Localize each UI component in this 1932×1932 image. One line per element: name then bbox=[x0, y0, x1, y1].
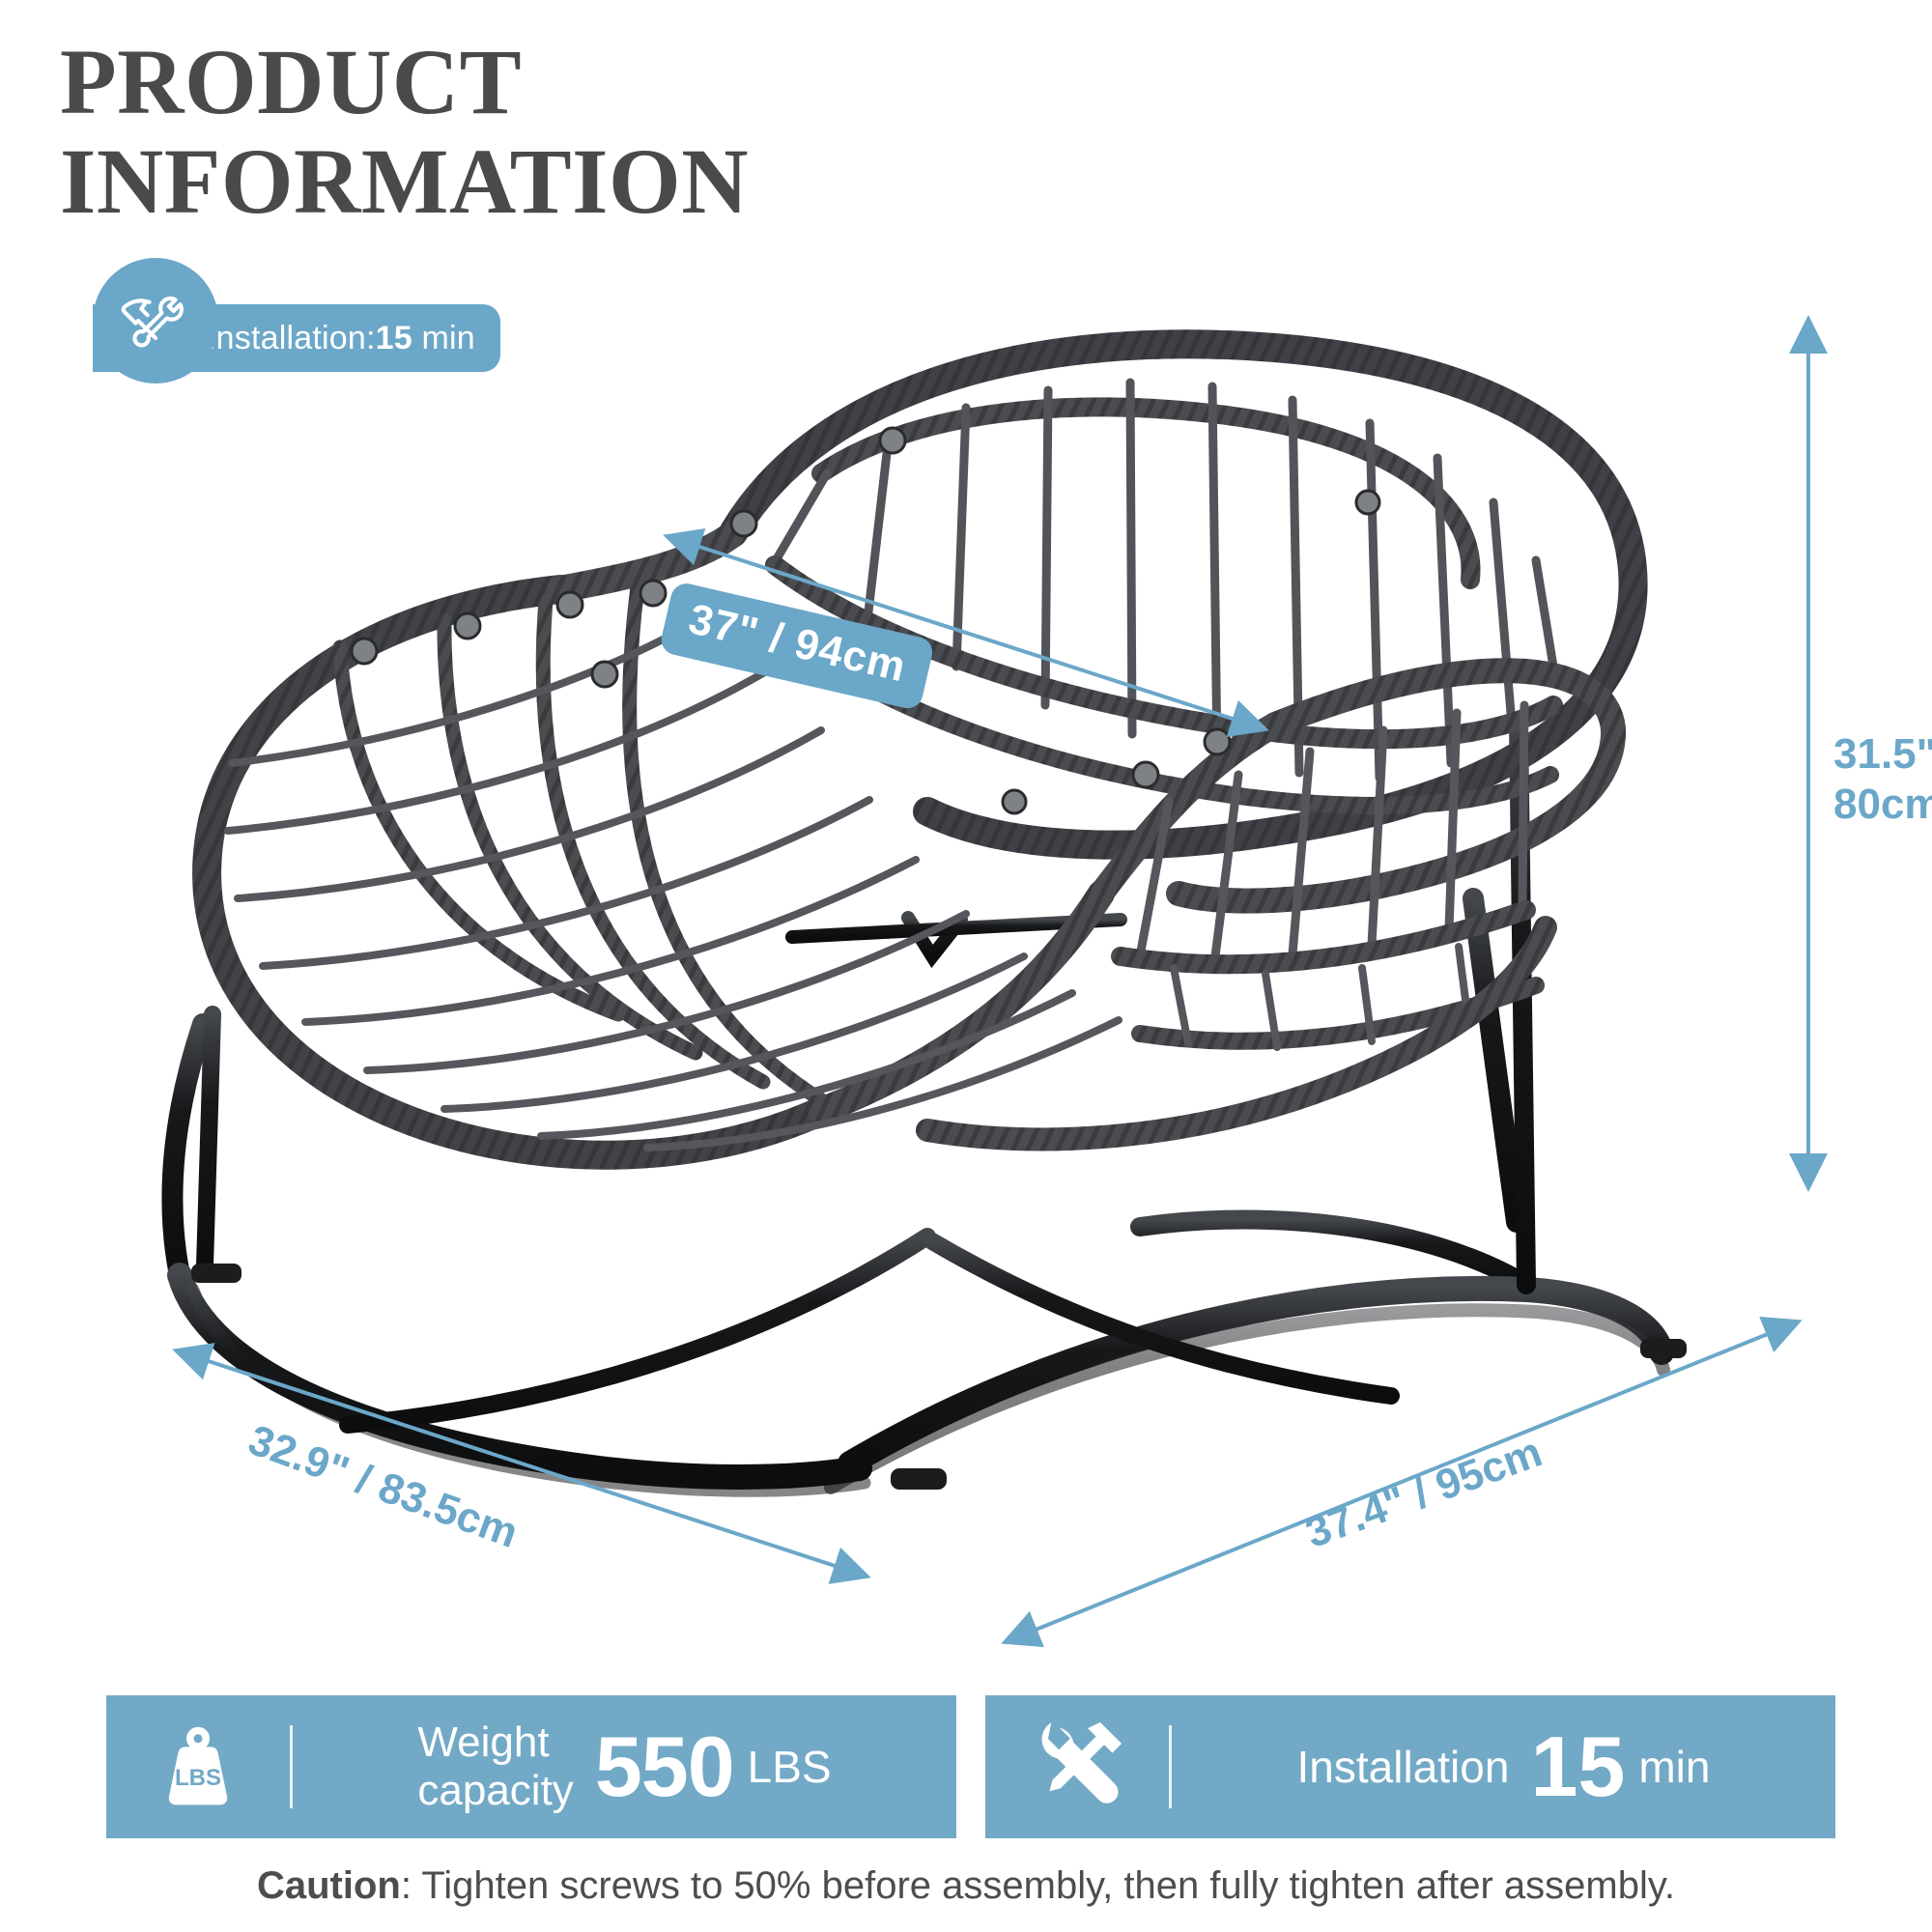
weight-icon-text: LBS bbox=[175, 1765, 221, 1791]
weight-capacity-bar: LBS Weight capacity 550 LBS bbox=[106, 1695, 956, 1838]
caution-prefix: Caution bbox=[257, 1864, 401, 1907]
product-information-page: PRODUCT INFORMATION Installation:15 min bbox=[0, 0, 1932, 1932]
height-dimension-inches: 31.5" bbox=[1833, 729, 1932, 780]
installation-bar-unit: min bbox=[1638, 1741, 1710, 1793]
weight-capacity-unit: LBS bbox=[748, 1741, 832, 1793]
height-dimension-label: 31.5" 80cm bbox=[1833, 729, 1932, 830]
installation-time-bar: Installation 15 min bbox=[985, 1695, 1835, 1838]
height-dimension-cm: 80cm bbox=[1833, 780, 1932, 830]
caution-text: : Tighten screws to 50% before assembly,… bbox=[401, 1864, 1675, 1907]
wrench-screwdriver-icon bbox=[985, 1710, 1169, 1824]
bar-divider bbox=[1169, 1725, 1172, 1808]
caution-note: Caution: Tighten screws to 50% before as… bbox=[0, 1864, 1932, 1908]
weight-lbs-icon: LBS bbox=[106, 1714, 290, 1820]
weight-capacity-label: Weight capacity bbox=[417, 1719, 573, 1815]
weight-capacity-value: 550 bbox=[595, 1718, 734, 1816]
weight-capacity-label-line1: Weight bbox=[417, 1719, 573, 1767]
installation-bar-value: 15 bbox=[1530, 1718, 1625, 1816]
weight-capacity-body: Weight capacity 550 LBS bbox=[293, 1718, 956, 1816]
weight-capacity-label-line2: capacity bbox=[417, 1767, 573, 1815]
installation-bar-label: Installation bbox=[1297, 1741, 1510, 1793]
installation-time-body: Installation 15 min bbox=[1172, 1718, 1835, 1816]
bar-divider bbox=[290, 1725, 293, 1808]
spec-bars: LBS Weight capacity 550 LBS bbox=[0, 1695, 1932, 1838]
